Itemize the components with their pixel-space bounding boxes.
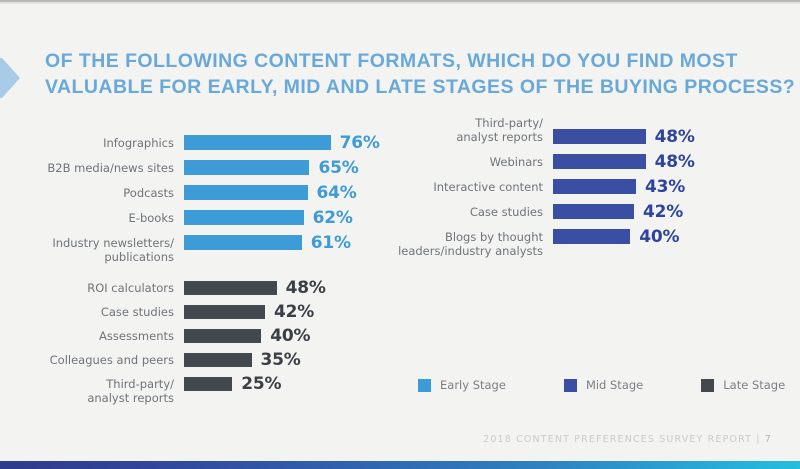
bar-late <box>184 353 252 367</box>
bar-late <box>184 305 265 319</box>
bar-early <box>184 235 302 250</box>
bar-track: 62% <box>184 208 381 228</box>
bar-mid <box>553 204 634 219</box>
chart-bar-row: Podcasts64% <box>36 180 381 205</box>
bar-track: 61% <box>184 233 381 253</box>
footer-text: 2018 CONTENT PREFERENCES SURVEY REPORT | <box>483 434 760 445</box>
bar-early <box>184 135 331 150</box>
legend-item[interactable]: Late Stage <box>701 378 785 392</box>
chart-bar-row: Third-party/ analyst reports25% <box>24 372 374 396</box>
chart-bar-row: Case studies42% <box>398 199 768 224</box>
bar-value-label: 35% <box>252 350 301 370</box>
bar-early <box>184 185 308 200</box>
bar-value-label: 48% <box>646 152 695 172</box>
bar-value-label: 76% <box>331 133 380 153</box>
chart-bar-row: Colleagues and peers35% <box>24 348 374 372</box>
bar-track: 35% <box>184 350 374 370</box>
bar-track: 48% <box>184 278 374 298</box>
chart-early-stage: Infographics76%B2B media/news sites65%Po… <box>36 130 381 255</box>
bar-category-label: Webinars <box>398 155 553 169</box>
bar-category-label: Case studies <box>398 205 553 219</box>
legend-swatch-icon <box>564 379 577 392</box>
page-title: OF THE FOLLOWING CONTENT FORMATS, WHICH … <box>45 48 775 100</box>
bar-category-label: Case studies <box>24 305 184 319</box>
bar-track: 48% <box>553 127 768 147</box>
bar-category-label: Infographics <box>36 136 184 150</box>
legend-swatch-icon <box>418 379 431 392</box>
chart-legend: Early StageMid StageLate Stage <box>418 378 785 392</box>
bar-late <box>184 329 261 343</box>
bar-late <box>184 281 277 295</box>
chart-bar-row: Industry newsletters/ publications61% <box>36 230 381 255</box>
bar-mid <box>553 179 636 194</box>
chart-bar-row: Interactive content43% <box>398 174 768 199</box>
footer-caption: 2018 CONTENT PREFERENCES SURVEY REPORT |… <box>483 434 772 445</box>
chart-bar-row: E-books62% <box>36 205 381 230</box>
chart-bar-row: Webinars48% <box>398 149 768 174</box>
legend-item[interactable]: Mid Stage <box>564 378 643 392</box>
bar-track: 64% <box>184 183 381 203</box>
footer-page-number: 7 <box>765 434 772 445</box>
chart-bar-row: Assessments40% <box>24 324 374 348</box>
chart-bar-row: Blogs by thought leaders/industry analys… <box>398 224 768 249</box>
bottom-accent-bar <box>0 461 800 469</box>
legend-label: Late Stage <box>723 378 785 392</box>
bar-late <box>184 377 232 391</box>
chart-bar-row: B2B media/news sites65% <box>36 155 381 180</box>
chart-bar-row: Third-party/ analyst reports48% <box>398 124 768 149</box>
bar-track: 65% <box>184 158 381 178</box>
page-title-line-1: OF THE FOLLOWING CONTENT FORMATS, WHICH … <box>45 48 775 74</box>
slide-canvas: OF THE FOLLOWING CONTENT FORMATS, WHICH … <box>0 4 800 461</box>
bar-value-label: 42% <box>265 302 314 322</box>
bar-value-label: 61% <box>302 233 351 253</box>
bar-category-label: Colleagues and peers <box>24 353 184 367</box>
chart-late-stage: ROI calculators48%Case studies42%Assessm… <box>24 276 374 396</box>
bar-category-label: E-books <box>36 211 184 225</box>
bar-value-label: 65% <box>309 158 358 178</box>
bar-category-label: B2B media/news sites <box>36 161 184 175</box>
chart-bar-row: ROI calculators48% <box>24 276 374 300</box>
bar-early <box>184 160 309 175</box>
bar-value-label: 40% <box>630 227 679 247</box>
bar-value-label: 48% <box>646 127 695 147</box>
bar-category-label: Third-party/ analyst reports <box>24 377 184 405</box>
chart-mid-stage: Third-party/ analyst reports48%Webinars4… <box>398 124 768 249</box>
bar-value-label: 64% <box>308 183 357 203</box>
chart-bar-row: Infographics76% <box>36 130 381 155</box>
legend-swatch-icon <box>701 379 714 392</box>
bar-track: 40% <box>184 326 374 346</box>
bar-mid <box>553 154 646 169</box>
bar-track: 48% <box>553 152 768 172</box>
bar-value-label: 48% <box>277 278 326 298</box>
bar-category-label: Third-party/ analyst reports <box>398 116 553 144</box>
page-title-line-2: VALUABLE FOR EARLY, MID AND LATE STAGES … <box>45 74 775 100</box>
bar-track: 25% <box>184 374 374 394</box>
bar-track: 42% <box>553 202 768 222</box>
bar-track: 40% <box>553 227 768 247</box>
bar-value-label: 43% <box>636 177 685 197</box>
bar-category-label: ROI calculators <box>24 281 184 295</box>
bar-category-label: Industry newsletters/ publications <box>36 236 184 264</box>
bar-category-label: Blogs by thought leaders/industry analys… <box>398 230 553 258</box>
bar-category-label: Assessments <box>24 329 184 343</box>
bar-value-label: 62% <box>304 208 353 228</box>
legend-item[interactable]: Early Stage <box>418 378 506 392</box>
bar-value-label: 40% <box>261 326 310 346</box>
bar-track: 76% <box>184 133 381 153</box>
chart-bar-row: Case studies42% <box>24 300 374 324</box>
bar-mid <box>553 229 630 244</box>
bar-track: 43% <box>553 177 768 197</box>
bar-value-label: 25% <box>232 374 281 394</box>
legend-label: Early Stage <box>440 378 506 392</box>
bar-early <box>184 210 304 225</box>
legend-label: Mid Stage <box>586 378 643 392</box>
bar-value-label: 42% <box>634 202 683 222</box>
bar-track: 42% <box>184 302 374 322</box>
bar-category-label: Interactive content <box>398 180 553 194</box>
bar-category-label: Podcasts <box>36 186 184 200</box>
arrow-right-icon <box>0 56 22 100</box>
bar-mid <box>553 129 646 144</box>
